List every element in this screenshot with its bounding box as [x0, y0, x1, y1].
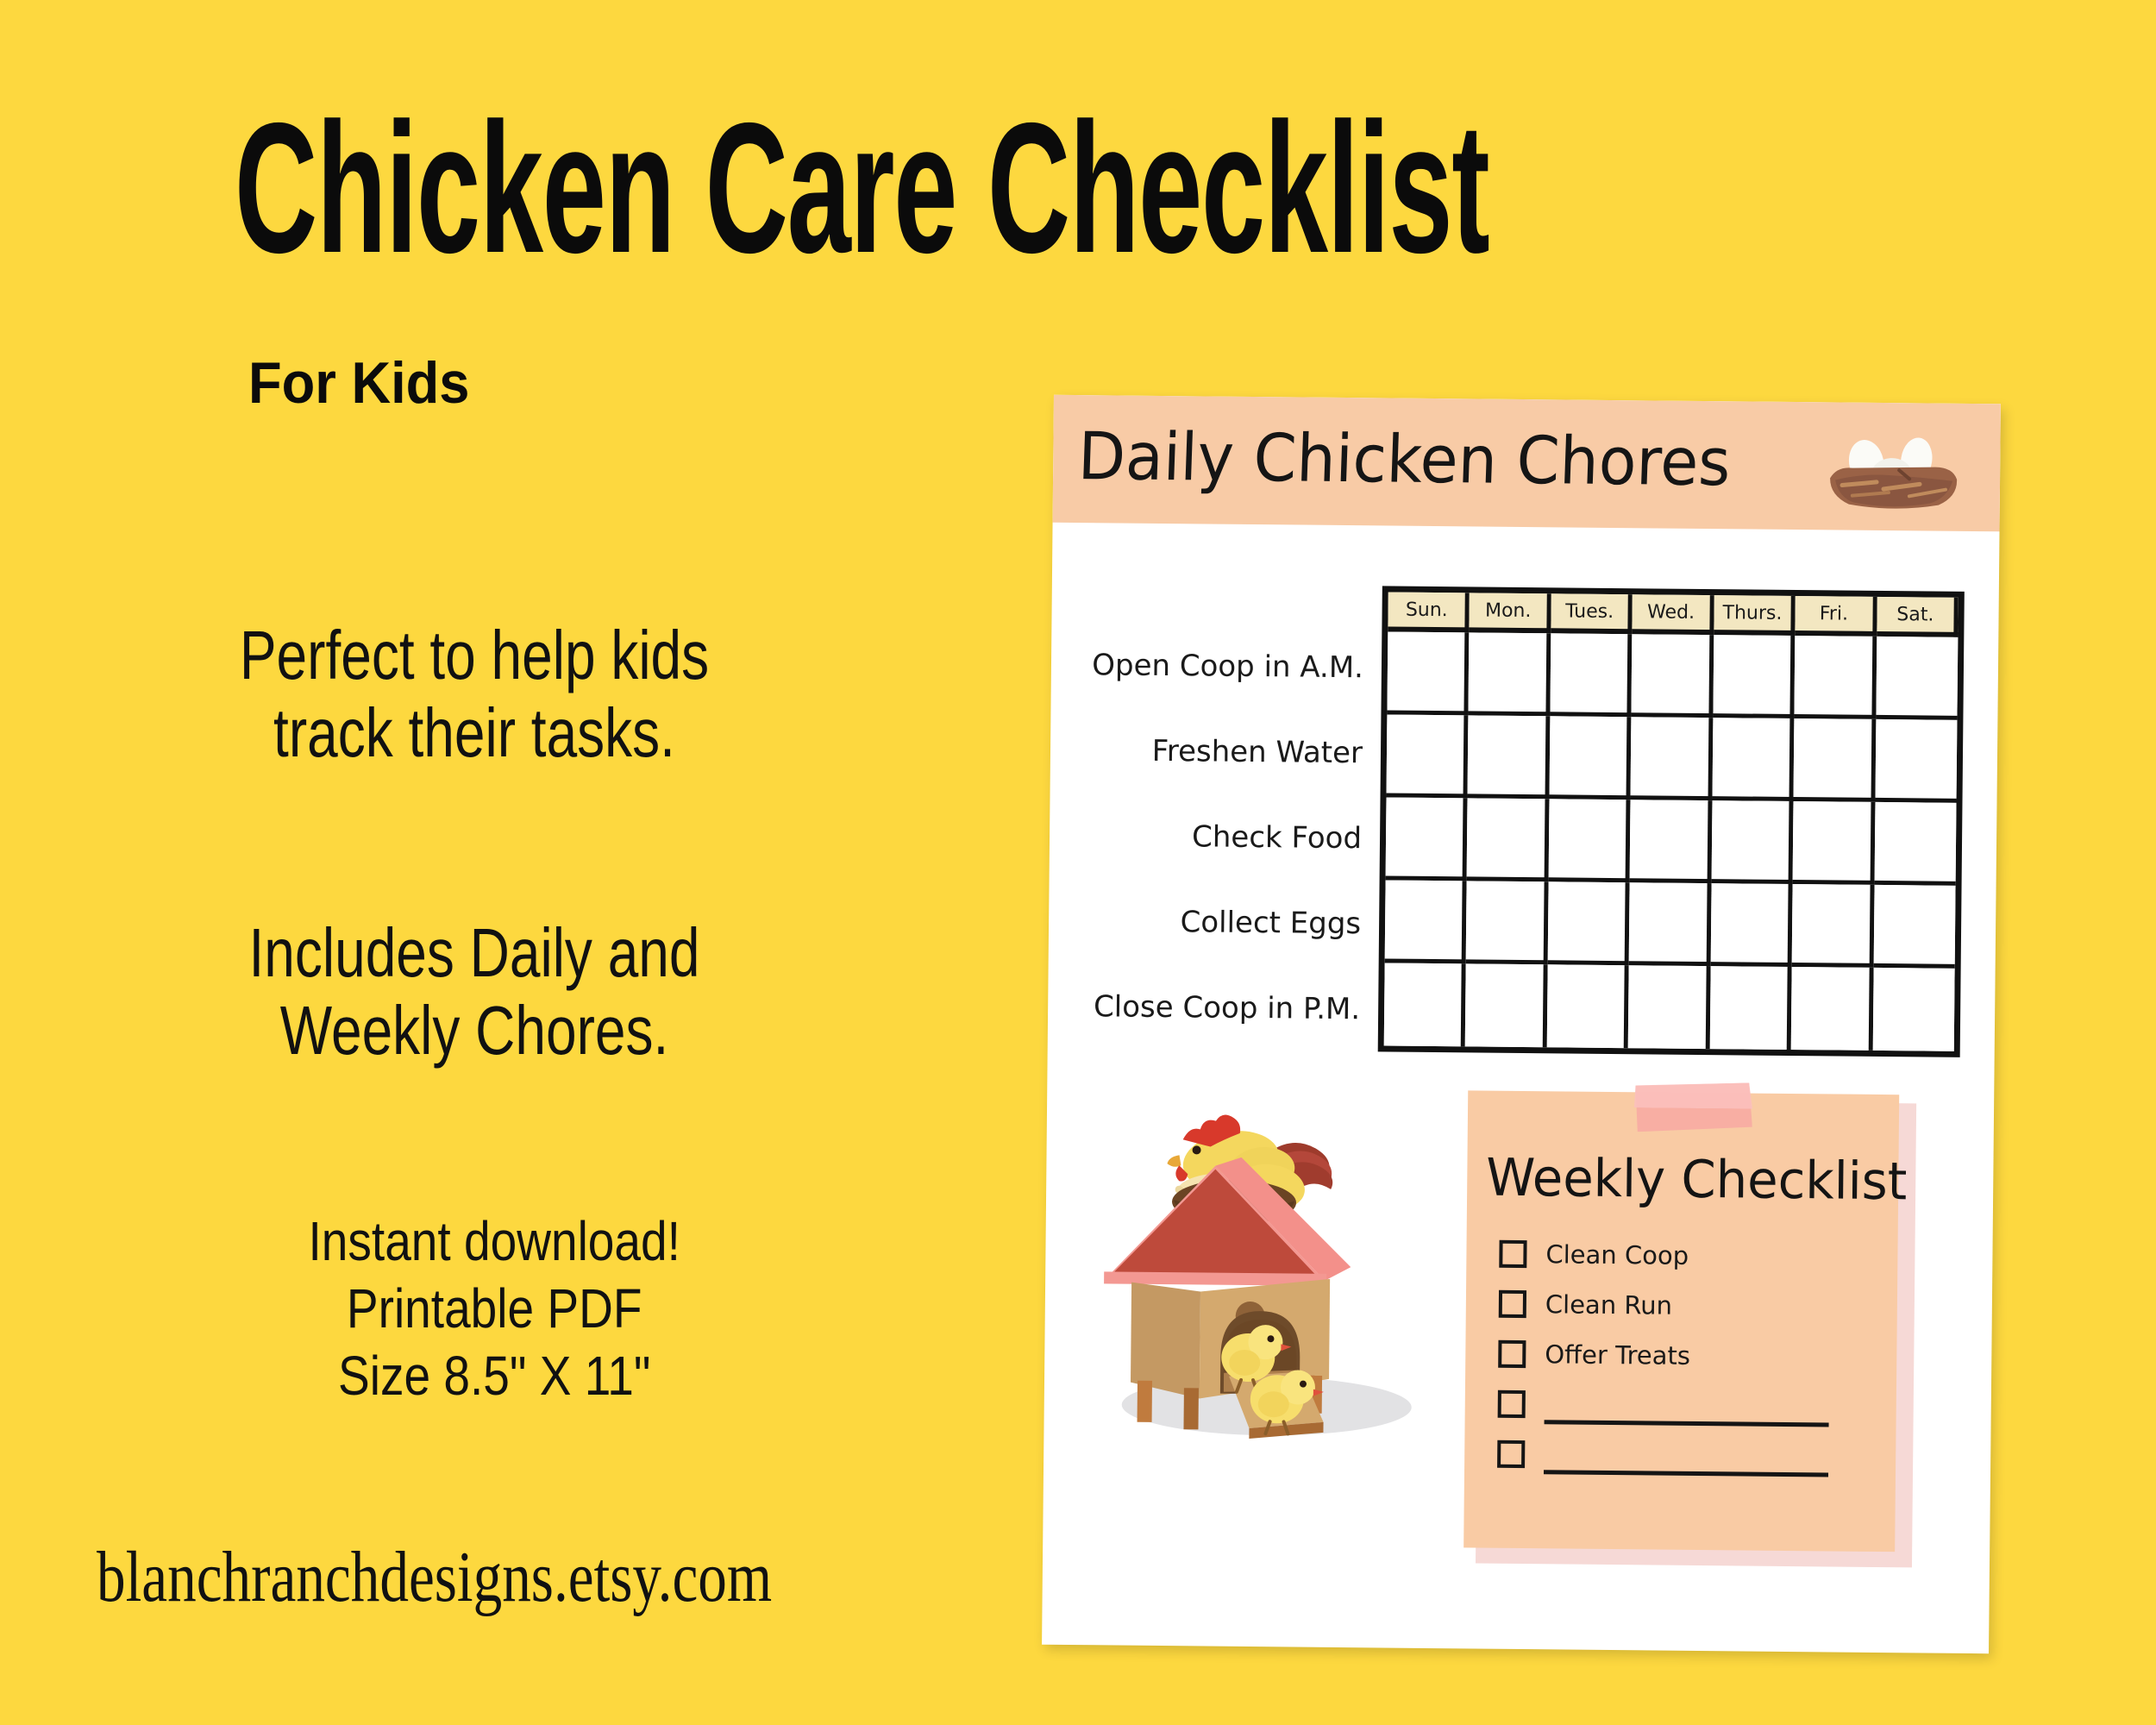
printable-preview: Daily Chicken Chores Open Coop in A.M. F…	[1042, 395, 2001, 1653]
chore-cell[interactable]	[1386, 797, 1468, 881]
list-item[interactable]: Clean Run	[1499, 1279, 1879, 1333]
chore-cell[interactable]	[1872, 968, 1954, 1051]
chore-cell[interactable]	[1876, 637, 1958, 720]
chore-cell[interactable]	[1465, 963, 1547, 1047]
day-header-tues: Tues.	[1551, 593, 1633, 634]
chore-cell[interactable]	[1713, 635, 1795, 718]
promo-text-includes: Includes Daily and Weekly Chores.	[164, 914, 785, 1070]
chore-cell[interactable]	[1709, 966, 1791, 1050]
list-item-label: Clean Coop	[1545, 1239, 1689, 1270]
chore-cell[interactable]	[1385, 880, 1467, 963]
chore-cell[interactable]	[1467, 798, 1549, 881]
chore-cell[interactable]	[1469, 632, 1551, 716]
chore-cell[interactable]	[1468, 715, 1550, 799]
promo-text-tasks: Perfect to help kids track their tasks.	[164, 617, 785, 773]
day-header-sun: Sun.	[1388, 592, 1470, 632]
list-item-blank[interactable]	[1497, 1379, 1877, 1433]
chore-row-label: Open Coop in A.M.	[1102, 623, 1370, 711]
list-item-label: Offer Treats	[1545, 1339, 1690, 1371]
tape-strip-highlight-icon	[1632, 1082, 1752, 1108]
chore-cell[interactable]	[1629, 882, 1711, 966]
chore-cell[interactable]	[1547, 964, 1629, 1048]
checkbox-icon[interactable]	[1498, 1340, 1526, 1368]
chore-row-label: Check Food	[1101, 793, 1369, 881]
weekly-checklist-items: Clean Coop Clean Run Offer Treats	[1497, 1229, 1879, 1483]
write-in-line[interactable]	[1544, 1470, 1828, 1477]
chore-cell[interactable]	[1792, 884, 1874, 968]
day-header-sat: Sat.	[1877, 597, 1959, 637]
chore-row-label: Close Coop in P.M.	[1100, 963, 1368, 1051]
chore-cell[interactable]	[1549, 716, 1631, 800]
chore-grid: Sun. Mon. Tues. Wed. Thurs. Fri. Sat.	[1378, 586, 1965, 1057]
shop-url: blanchranchdesigns.etsy.com	[97, 1535, 772, 1619]
chore-cell[interactable]	[1466, 881, 1548, 964]
chore-cell[interactable]	[1387, 631, 1469, 715]
chore-cell[interactable]	[1875, 719, 1957, 803]
chore-cell[interactable]	[1710, 883, 1792, 967]
chore-row-labels: Open Coop in A.M. Freshen Water Check Fo…	[1100, 623, 1371, 1051]
day-header-mon: Mon.	[1470, 593, 1551, 633]
list-item-blank[interactable]	[1497, 1429, 1877, 1483]
nest-with-eggs-icon	[1827, 428, 1961, 511]
page-subtitle: For Kids	[248, 349, 469, 417]
chore-cell[interactable]	[1795, 636, 1877, 719]
chore-cell[interactable]	[1793, 801, 1875, 885]
promo-panel: Chicken Care Checklist For Kids Perfect …	[0, 0, 1035, 1725]
chore-cell[interactable]	[1548, 799, 1630, 882]
list-item-label: Clean Run	[1545, 1289, 1672, 1320]
sheet-header-band: Daily Chicken Chores	[1053, 395, 2001, 532]
chore-cell[interactable]	[1874, 802, 1956, 886]
chore-cell[interactable]	[1387, 714, 1469, 798]
page-title: Chicken Care Checklist	[235, 95, 1489, 280]
sheet-title: Daily Chicken Chores	[1077, 417, 1732, 500]
chore-cell[interactable]	[1628, 965, 1710, 1049]
list-item[interactable]: Clean Coop	[1499, 1229, 1879, 1283]
day-header-wed: Wed.	[1633, 594, 1714, 635]
checkbox-icon[interactable]	[1499, 1290, 1526, 1318]
chore-cell[interactable]	[1873, 885, 1955, 969]
checkbox-icon[interactable]	[1498, 1390, 1526, 1418]
weekly-checklist-note: Weekly Checklist Clean Coop Clean Run Of…	[1463, 1080, 1916, 1567]
checkbox-icon[interactable]	[1499, 1240, 1526, 1268]
chore-cell[interactable]	[1794, 718, 1876, 802]
chore-cell[interactable]	[1791, 967, 1873, 1051]
chore-cell[interactable]	[1711, 800, 1793, 884]
day-header-fri: Fri.	[1795, 596, 1877, 637]
chicken-coop-illustration	[1097, 1059, 1428, 1442]
chore-cell[interactable]	[1712, 718, 1794, 801]
checkbox-icon[interactable]	[1497, 1440, 1525, 1468]
chore-cell[interactable]	[1631, 717, 1713, 800]
day-header-thurs: Thurs.	[1714, 595, 1796, 636]
chore-cell[interactable]	[1384, 963, 1466, 1046]
chore-row-label: Collect Eggs	[1100, 879, 1369, 967]
list-item[interactable]: Offer Treats	[1498, 1329, 1878, 1383]
write-in-line[interactable]	[1545, 1420, 1829, 1427]
promo-text-download: Instant download! Printable PDF Size 8.5…	[220, 1207, 768, 1409]
chore-cell[interactable]	[1548, 881, 1630, 965]
chore-cell[interactable]	[1632, 634, 1714, 718]
chore-cell[interactable]	[1630, 800, 1712, 883]
chore-cell[interactable]	[1550, 633, 1632, 717]
chore-row-label: Freshen Water	[1102, 708, 1370, 796]
weekly-checklist-title: Weekly Checklist	[1486, 1148, 1908, 1213]
